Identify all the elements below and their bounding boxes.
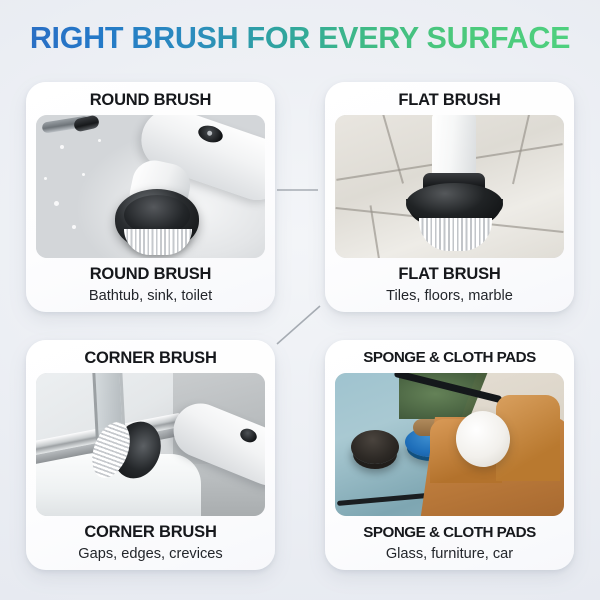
card-description-corner-brush: Gaps, edges, crevices — [34, 544, 267, 564]
card-footer-flat-brush: FLAT BRUSH Tiles, floors, marble — [333, 264, 566, 306]
card-label-corner-brush: CORNER BRUSH — [34, 522, 267, 543]
card-description-flat-brush: Tiles, floors, marble — [333, 286, 566, 306]
card-title-corner-brush: CORNER BRUSH — [84, 347, 216, 369]
card-label-flat-brush: FLAT BRUSH — [333, 264, 566, 285]
card-footer-corner-brush: CORNER BRUSH Gaps, edges, crevices — [34, 522, 267, 564]
card-image-sponge-cloth-pads — [335, 373, 564, 516]
card-title-flat-brush: FLAT BRUSH — [398, 89, 500, 111]
card-title-sponge-cloth-pads: SPONGE & CLOTH PADS — [363, 347, 535, 369]
card-round-brush[interactable]: ROUND BRUSH ROUND BRUSH — [26, 82, 275, 312]
card-label-round-brush: ROUND BRUSH — [34, 264, 267, 285]
brush-card-grid: ROUND BRUSH ROUND BRUSH — [26, 82, 574, 570]
card-description-sponge-cloth-pads: Glass, furniture, car — [333, 544, 566, 564]
card-footer-sponge-cloth-pads: SPONGE & CLOTH PADS Glass, furniture, ca… — [333, 522, 566, 564]
page-title: RIGHT BRUSH FOR EVERY SURFACE — [30, 21, 570, 56]
card-image-flat-brush — [335, 115, 564, 258]
card-sponge-cloth-pads[interactable]: SPONGE & CLOTH PADS SPONGE & CLOTH PADS … — [325, 340, 574, 570]
card-image-corner-brush — [36, 373, 265, 516]
card-image-round-brush — [36, 115, 265, 258]
card-description-round-brush: Bathtub, sink, toilet — [34, 286, 267, 306]
card-footer-round-brush: ROUND BRUSH Bathtub, sink, toilet — [34, 264, 267, 306]
card-label-sponge-cloth-pads: SPONGE & CLOTH PADS — [333, 522, 566, 543]
page-header: RIGHT BRUSH FOR EVERY SURFACE — [0, 0, 600, 76]
card-corner-brush[interactable]: CORNER BRUSH CORNER BRUSH Gaps, edges, c… — [26, 340, 275, 570]
card-flat-brush[interactable]: FLAT BRUSH FLAT BRUSH Tiles, floors, mar… — [325, 82, 574, 312]
card-title-round-brush: ROUND BRUSH — [90, 89, 212, 111]
